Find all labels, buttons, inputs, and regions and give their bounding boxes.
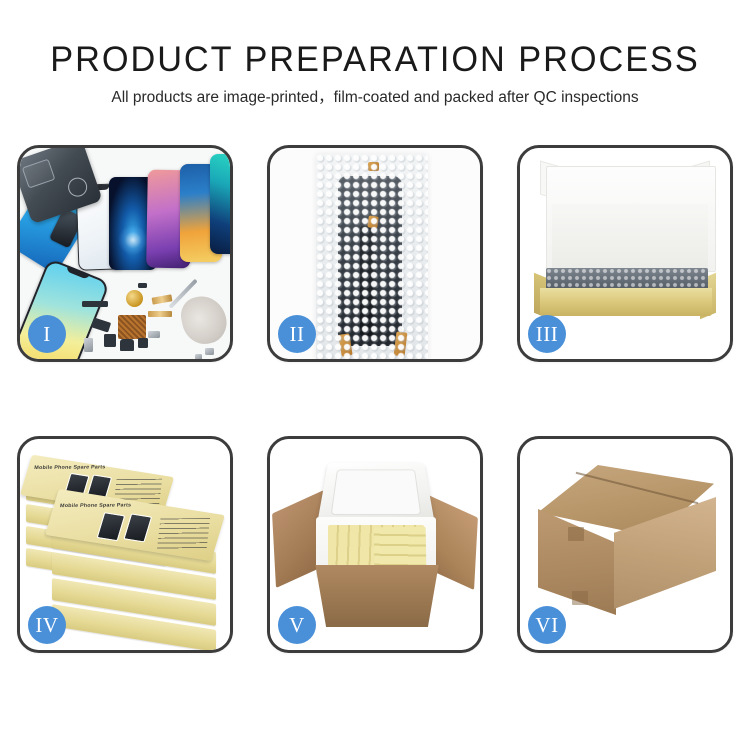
process-step-6[interactable]: VI (517, 436, 733, 653)
contact-pad-part (118, 315, 146, 339)
step-6-image: VI (520, 439, 730, 650)
vibrator-part (120, 339, 134, 351)
box-art-phone-front-b (123, 513, 152, 542)
button-part (138, 338, 148, 348)
flex-cable-part-b (148, 311, 172, 317)
step-2-image: II (270, 148, 480, 359)
carton-tape-upper (568, 527, 584, 541)
step-1-image: I (20, 148, 230, 359)
box-front-panel (540, 288, 712, 316)
sim-tray-part (84, 338, 93, 352)
step-badge-2: II (278, 315, 316, 353)
carton-tape-lower (572, 591, 588, 605)
box-label-front: Mobile Phone Spare Parts (60, 503, 132, 509)
phone-display-teal (210, 154, 230, 254)
step-3-image: III (520, 148, 730, 359)
step-badge-1: I (28, 315, 66, 353)
screw-part-a (205, 348, 214, 355)
step-4-image: Mobile Phone Spare Parts Mobile Phone Sp… (20, 439, 230, 650)
page-header: PRODUCT PREPARATION PROCESS All products… (0, 0, 750, 109)
box-label-back: Mobile Phone Spare Parts (34, 464, 106, 470)
connector-part-b (104, 334, 116, 347)
process-grid: I II (17, 145, 733, 653)
box-art-phone-front-a (97, 512, 126, 541)
step-badge-6: VI (528, 606, 566, 644)
step-badge-3: III (528, 315, 566, 353)
screw-part-b (195, 354, 202, 359)
box-inner-wall (552, 204, 708, 272)
process-step-1[interactable]: I (17, 145, 233, 362)
bracket-part (148, 331, 160, 338)
step-badge-4: IV (28, 606, 66, 644)
step-5-image: V (270, 439, 480, 650)
process-step-4[interactable]: Mobile Phone Spare Parts Mobile Phone Sp… (17, 436, 233, 653)
bubble-texture (316, 154, 428, 359)
speaker-part (82, 301, 108, 307)
process-step-2[interactable]: II (267, 145, 483, 362)
sensor-part (138, 283, 147, 288)
page-subtitle: All products are image-printed，film-coat… (0, 87, 750, 109)
process-step-3[interactable]: III (517, 145, 733, 362)
box-spec-lines-front (157, 518, 210, 551)
process-step-5[interactable]: V (267, 436, 483, 653)
page-title: PRODUCT PREPARATION PROCESS (8, 40, 743, 80)
camera-module-part (126, 290, 143, 307)
step-badge-5: V (278, 606, 316, 644)
bubble-wrap-bag (316, 154, 428, 359)
packed-yellow-boxes-stack (374, 527, 427, 570)
carton-body (310, 565, 444, 627)
